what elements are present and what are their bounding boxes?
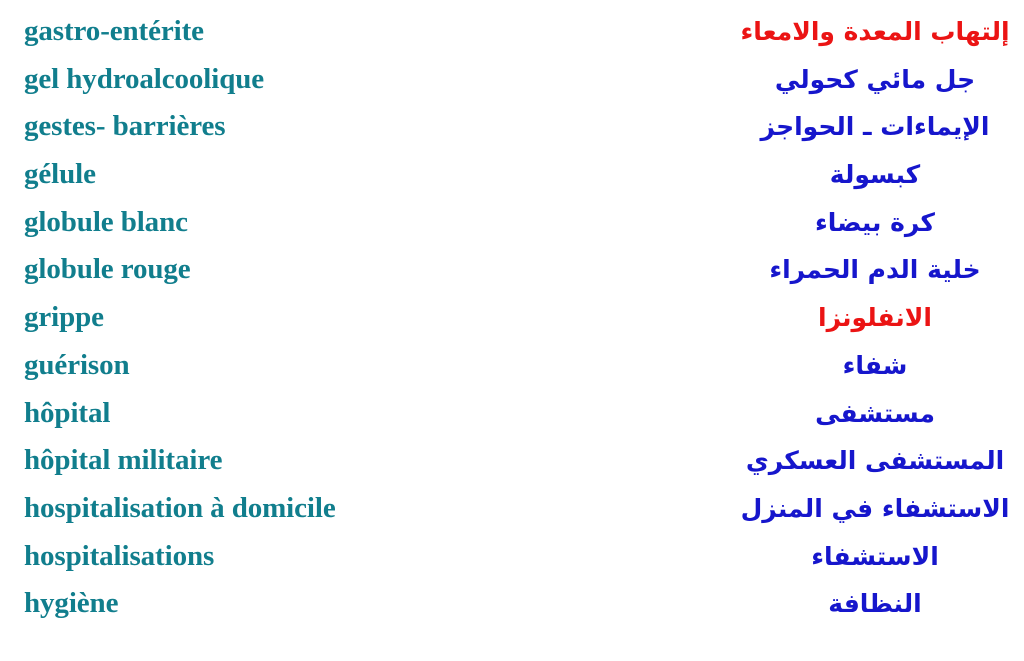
french-term: hospitalisation à domicile: [24, 494, 336, 523]
glossary-table: gastro-entériteإلتهاب المعدة والامعاءgel…: [0, 0, 1024, 661]
arabic-term: كبسولة: [830, 162, 920, 187]
french-term: gélule: [24, 160, 96, 189]
arabic-term: المستشفى العسكري: [746, 448, 1004, 473]
arabic-term: جل مائي كحولي: [775, 67, 975, 92]
glossary-entry-row: globule blancكرة بيضاء: [0, 191, 1024, 239]
arabic-term: الانفلونزا: [818, 305, 932, 330]
french-term: hôpital militaire: [24, 446, 222, 475]
arabic-term: مستشفى: [815, 401, 935, 426]
french-term: hôpital: [24, 399, 110, 428]
glossary-entry-row: hôpitalمستشفى: [0, 382, 1024, 430]
arabic-term: النظافة: [828, 591, 921, 616]
french-term: guérison: [24, 351, 130, 380]
glossary-entry-row: globule rougeخلية الدم الحمراء: [0, 239, 1024, 287]
french-term: gestes- barrières: [24, 112, 225, 141]
glossary-entry-row: hospitalisation à domicileالاستشفاء في ا…: [0, 477, 1024, 525]
arabic-term: إلتهاب المعدة والامعاء: [740, 19, 1009, 44]
glossary-entry-row: gestes- barrièresالإيماءات ـ الحواجز: [0, 96, 1024, 144]
arabic-term: شفاء: [843, 353, 908, 378]
french-term: gel hydroalcoolique: [24, 65, 264, 94]
glossary-entry-row: hygièneالنظافة: [0, 573, 1024, 621]
arabic-term: الاستشفاء في المنزل: [741, 496, 1010, 521]
french-term: globule rouge: [24, 255, 191, 284]
glossary-entry-row: gel hydroalcooliqueجل مائي كحولي: [0, 48, 1024, 96]
glossary-entry-row: guérisonشفاء: [0, 334, 1024, 382]
arabic-term: الإيماءات ـ الحواجز: [761, 114, 990, 139]
glossary-entry-row: grippeالانفلونزا: [0, 286, 1024, 334]
glossary-entry-row: gastro-entériteإلتهاب المعدة والامعاء: [0, 0, 1024, 48]
glossary-entry-row: géluleكبسولة: [0, 143, 1024, 191]
glossary-entry-row: hospitalisationsالاستشفاء: [0, 525, 1024, 573]
french-term: grippe: [24, 303, 104, 332]
glossary-entry-row: hôpital militaireالمستشفى العسكري: [0, 430, 1024, 478]
french-term: hospitalisations: [24, 542, 214, 571]
arabic-term: خلية الدم الحمراء: [769, 257, 980, 282]
arabic-term: الاستشفاء: [811, 544, 939, 569]
french-term: gastro-entérite: [24, 17, 204, 46]
arabic-term: كرة بيضاء: [815, 210, 935, 235]
french-term: globule blanc: [24, 208, 188, 237]
french-term: hygiène: [24, 589, 118, 618]
